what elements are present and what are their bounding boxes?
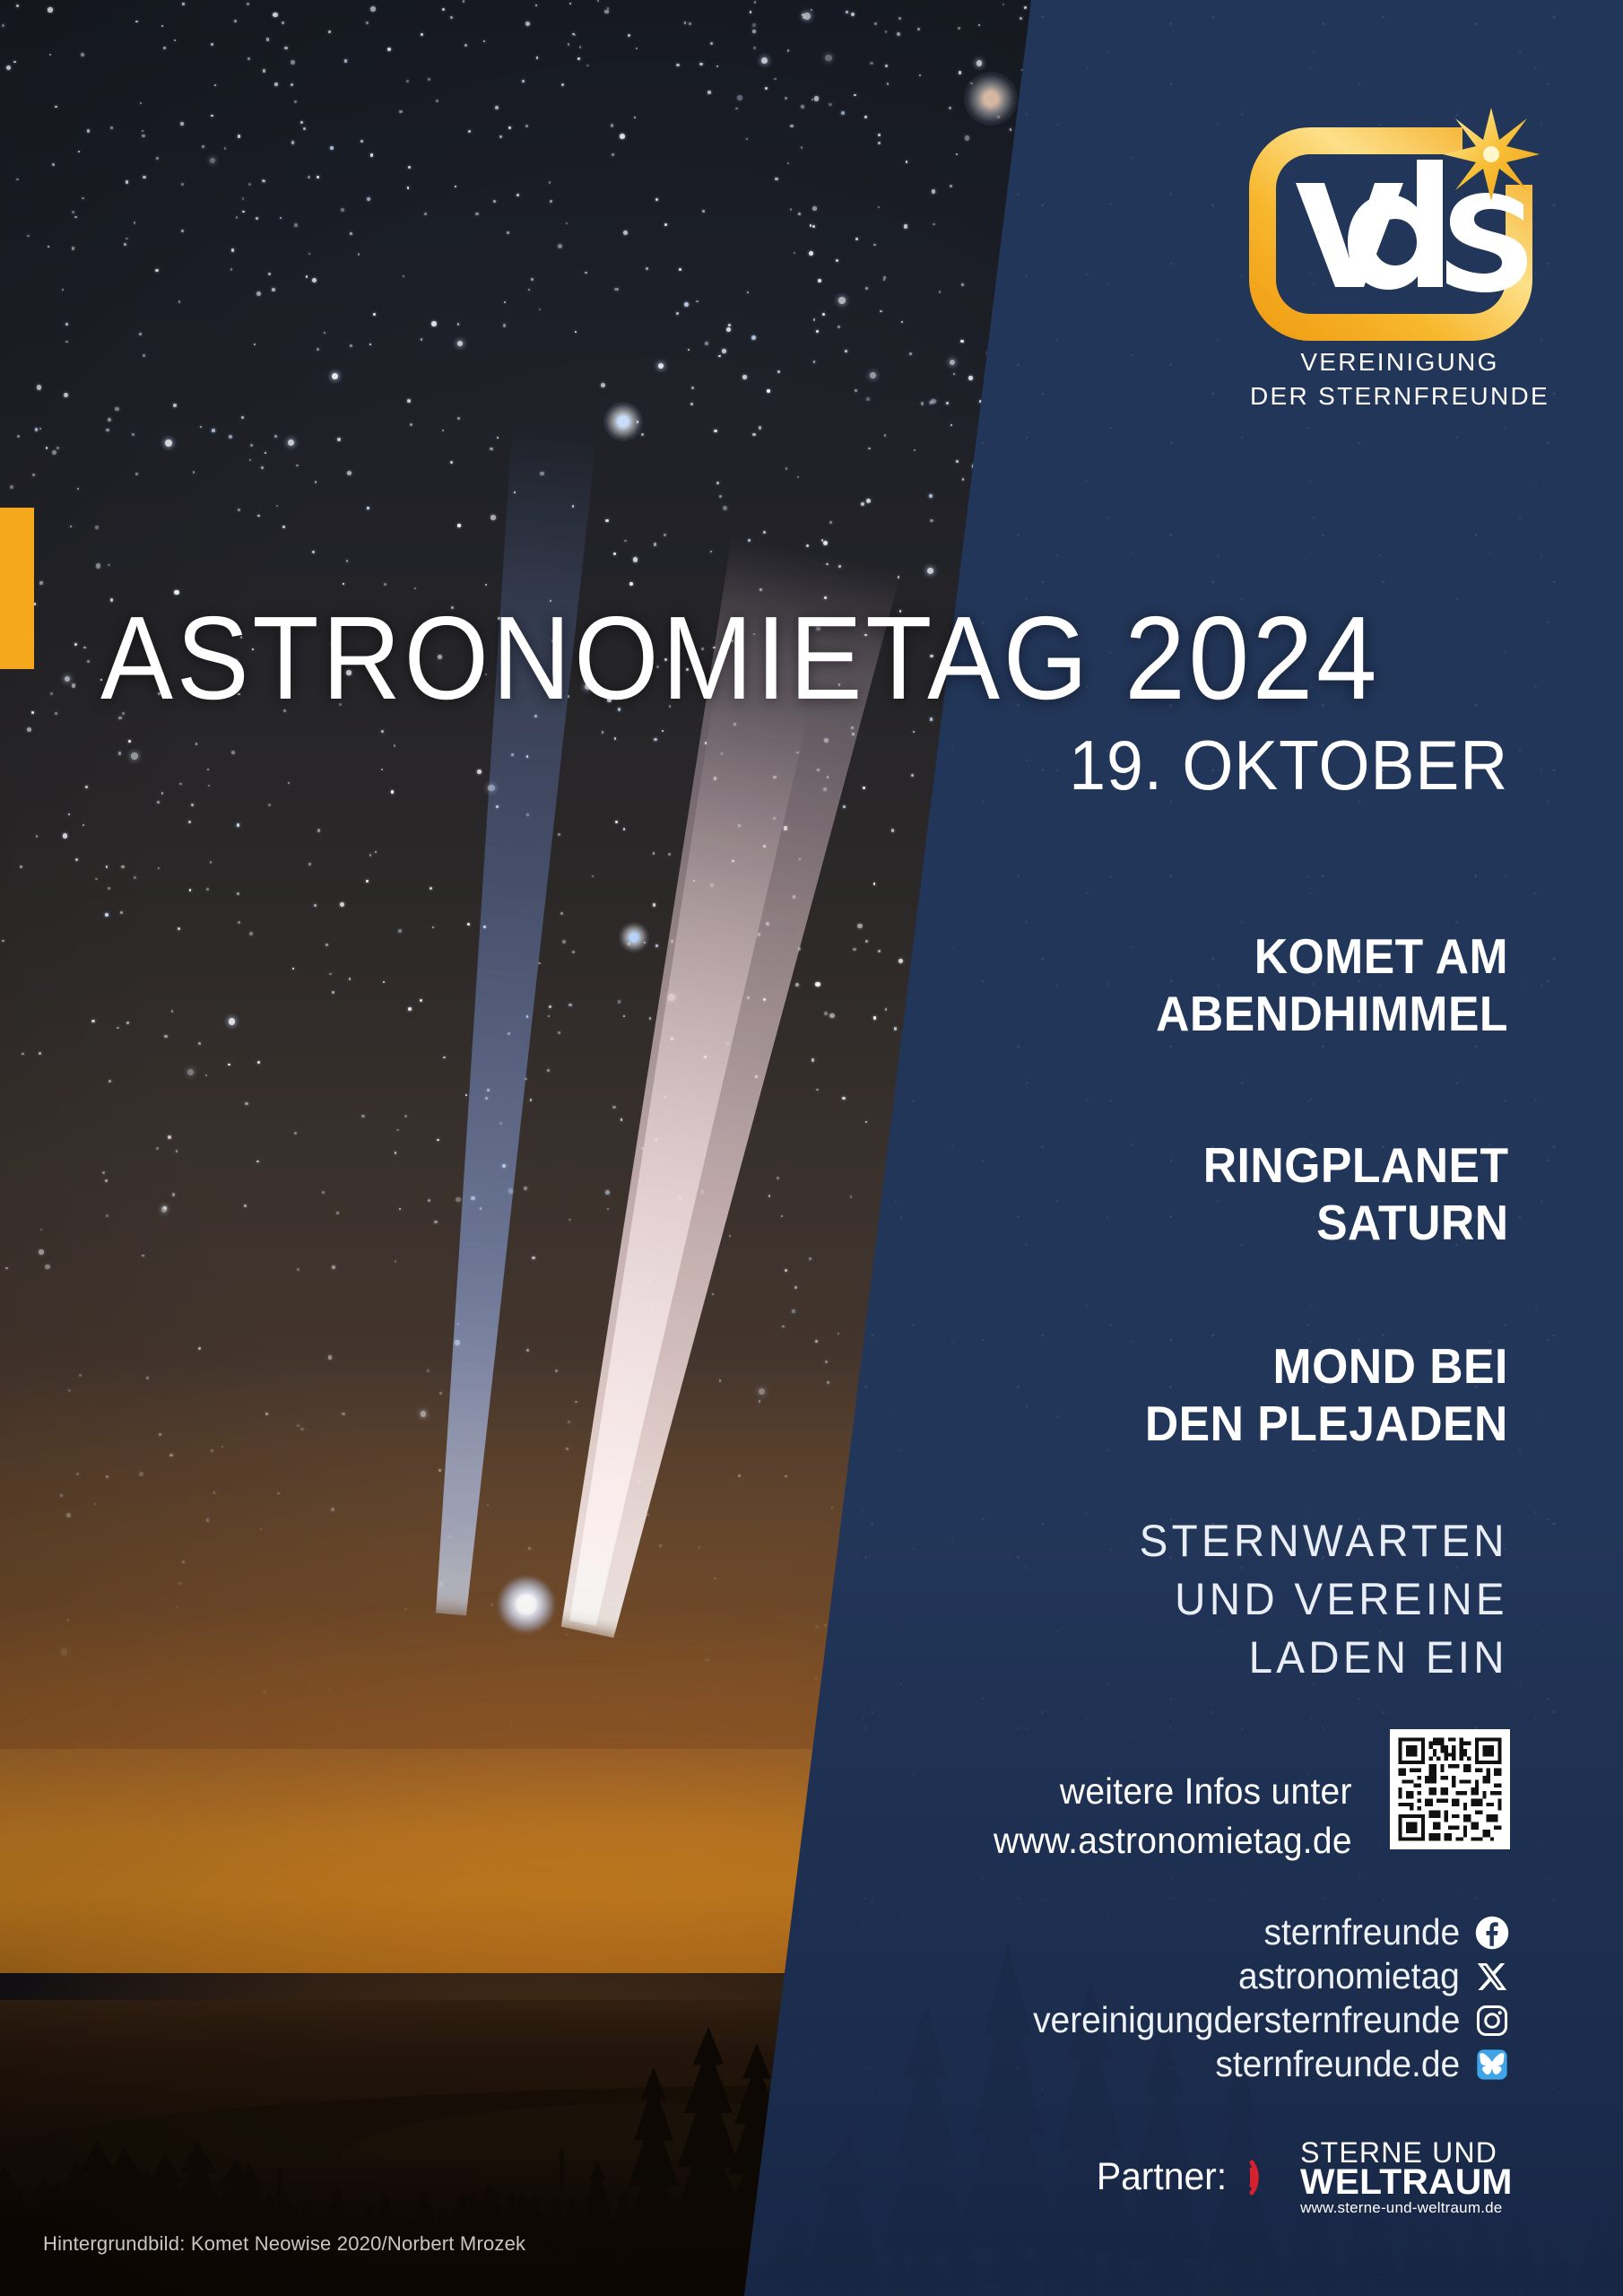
social-row-x[interactable]: astronomietag [936, 1954, 1510, 1998]
invitation-line3: LADEN EIN [1140, 1629, 1508, 1687]
website-url[interactable]: www.astronomietag.de [994, 1816, 1352, 1865]
event-date: 19. OKTOBER [1069, 730, 1508, 800]
social-handle-instagram: vereinigungdersternfreunde [1033, 2002, 1460, 2039]
qr-code[interactable] [1390, 1729, 1510, 1849]
partner-label: Partner: [1097, 2158, 1227, 2196]
sterne-und-weltraum-logo[interactable]: STERNE UND WELTRAUM www.sterne-und-weltr… [1245, 2138, 1508, 2216]
more-info-line1: weitere Infos unter [994, 1767, 1352, 1816]
social-handle-x: astronomietag [1238, 1958, 1460, 1995]
facebook-icon[interactable] [1474, 1915, 1510, 1951]
vds-subtitle-line1: VEREINIGUNG [1238, 345, 1561, 379]
vds-subtitle-line2: DER STERNFREUNDE [1238, 379, 1561, 413]
x-twitter-icon[interactable] [1474, 1959, 1510, 1995]
highlight-mond: MOND BEI DEN PLEJADEN [1145, 1338, 1508, 1453]
highlight-saturn: RINGPLANET SATURN [1202, 1137, 1508, 1252]
vds-logo-subtitle: VEREINIGUNG DER STERNFREUNDE [1238, 345, 1561, 413]
partner-block: Partner: STERNE UND WELTRAUM www.sterne-… [1093, 2138, 1508, 2216]
highlight-komet: KOMET AM ABENDHIMMEL [1156, 928, 1508, 1043]
social-handle-facebook: sternfreunde [1263, 1914, 1460, 1951]
invitation-line1: STERNWARTEN [1140, 1512, 1508, 1570]
poster: VEREINIGUNG DER STERNFREUNDE ASTRONOMIET… [0, 0, 1623, 2296]
highlight-saturn-line1: RINGPLANET [1202, 1137, 1508, 1195]
sterne-und-weltraum-wordmark: STERNE UND WELTRAUM www.sterne-und-weltr… [1300, 2138, 1508, 2216]
invitation-line2: UND VEREINE [1140, 1570, 1508, 1629]
more-info-text: weitere Infos unter www.astronomietag.de [994, 1767, 1352, 1865]
invitation-text: STERNWARTEN UND VEREINE LADEN EIN [1140, 1512, 1508, 1687]
instagram-icon[interactable] [1474, 2003, 1510, 2039]
bluesky-icon[interactable] [1474, 2047, 1510, 2083]
accent-bar [0, 508, 34, 669]
highlight-mond-line1: MOND BEI [1145, 1338, 1508, 1396]
social-handle-bluesky: sternfreunde.de [1215, 2046, 1460, 2083]
image-credit: Hintergrundbild: Komet Neowise 2020/Norb… [43, 2232, 525, 2256]
radio-waves-icon [1245, 2150, 1291, 2205]
suw-line2: WELTRAUM [1300, 2164, 1513, 2200]
page-title: ASTRONOMIETAG 2024 [100, 599, 1380, 717]
social-links: sternfreunde astronomietag vereinigungde… [936, 1910, 1510, 2086]
social-row-facebook[interactable]: sternfreunde [936, 1910, 1510, 1954]
highlight-komet-line1: KOMET AM [1156, 928, 1508, 986]
highlight-saturn-line2: SATURN [1202, 1195, 1508, 1252]
highlight-komet-line2: ABENDHIMMEL [1156, 986, 1508, 1043]
social-row-instagram[interactable]: vereinigungdersternfreunde [936, 1998, 1510, 2042]
social-row-bluesky[interactable]: sternfreunde.de [936, 2042, 1510, 2086]
highlight-mond-line2: DEN PLEJADEN [1145, 1396, 1508, 1453]
